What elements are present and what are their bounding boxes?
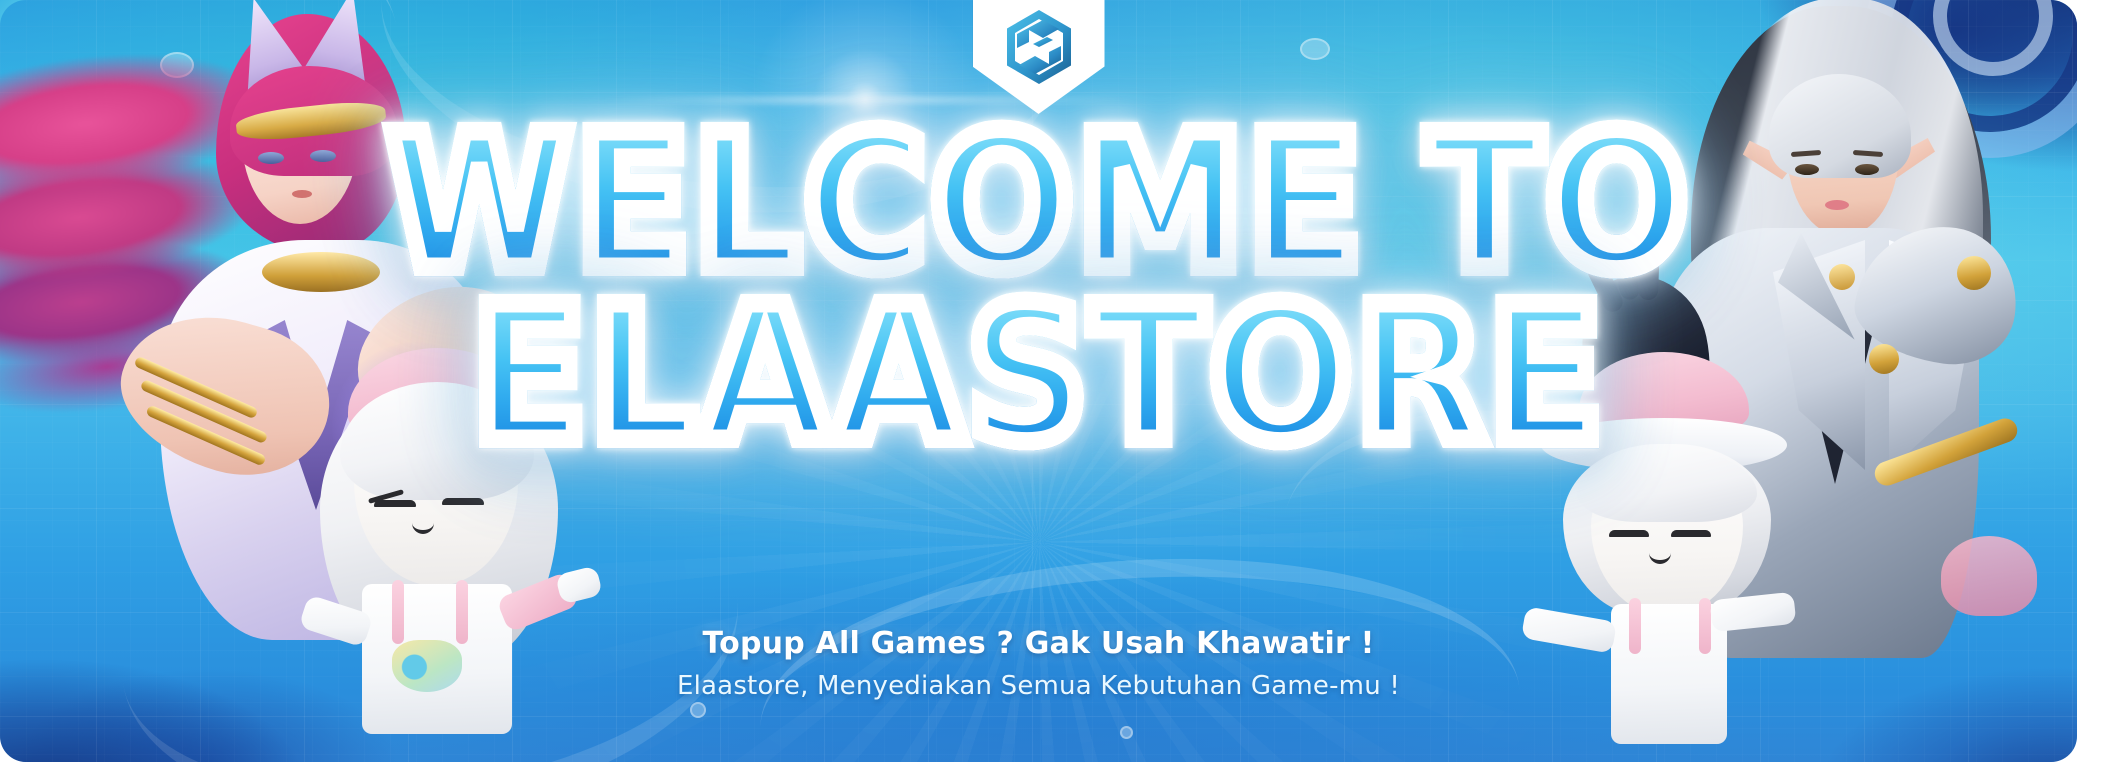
chibi-eye bbox=[374, 500, 416, 507]
tagline-secondary: Elaastore, Menyediakan Semua Kebutuhan G… bbox=[339, 671, 1739, 701]
character-gold-ornament bbox=[1957, 256, 1991, 290]
headline-line-2: ELAASTORE bbox=[378, 290, 1700, 461]
character-pendant bbox=[1829, 264, 1855, 290]
chibi-eye bbox=[442, 498, 484, 505]
character-lips bbox=[292, 190, 312, 198]
character-lips bbox=[1825, 200, 1849, 210]
headline-line-1: WELCOME TO bbox=[378, 118, 1700, 289]
hero-banner[interactable]: WELCOME TO ELAASTORE Topup All Games ? G… bbox=[0, 0, 2077, 762]
hero-taglines: Topup All Games ? Gak Usah Khawatir ! El… bbox=[339, 626, 1739, 701]
character-eye bbox=[1795, 164, 1819, 175]
background-bubble bbox=[1300, 38, 1330, 60]
character-gold-ornament bbox=[1869, 344, 1899, 374]
character-gold-collar bbox=[262, 252, 380, 292]
page-sheet-right-edge bbox=[2077, 56, 2104, 778]
page-sheet-bottom-edge bbox=[18, 762, 2104, 778]
character-eye bbox=[310, 150, 336, 162]
elaastore-hexagon-logo-icon bbox=[1003, 0, 1075, 91]
chibi-eye bbox=[1671, 530, 1711, 537]
page-root: WELCOME TO ELAASTORE Topup All Games ? G… bbox=[0, 0, 2104, 778]
hero-headline: WELCOME TO ELAASTORE bbox=[449, 118, 1629, 428]
chibi-hand bbox=[555, 565, 603, 604]
character-eye bbox=[258, 152, 284, 164]
chibi-eye bbox=[1609, 530, 1649, 537]
tagline-primary: Topup All Games ? Gak Usah Khawatir ! bbox=[339, 626, 1739, 661]
character-eye bbox=[1855, 164, 1879, 175]
character-pink-accent bbox=[1941, 536, 2037, 616]
